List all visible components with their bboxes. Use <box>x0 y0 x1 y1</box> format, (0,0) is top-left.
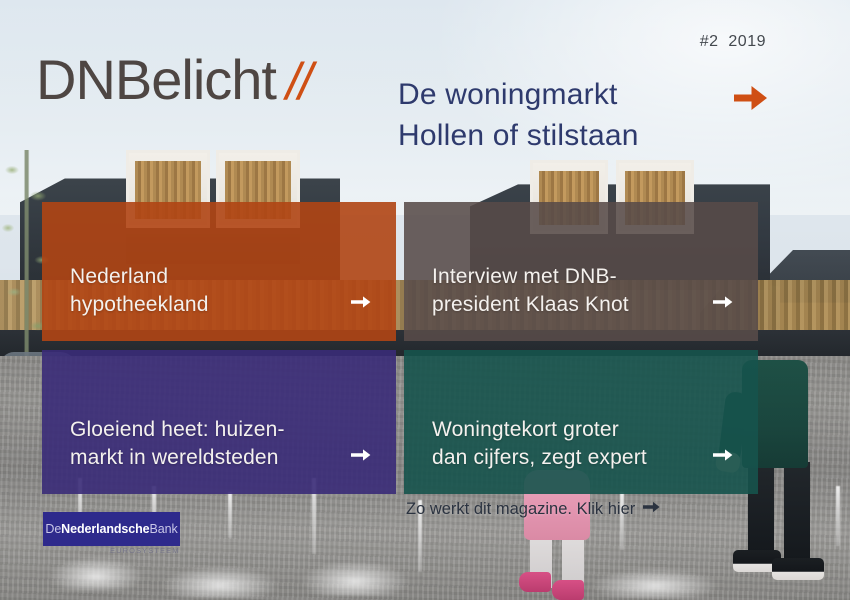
how-it-works-link[interactable]: Zo werkt dit magazine. Klik hier <box>406 500 660 519</box>
water-splash <box>300 560 410 596</box>
dnb-logo-suffix: Bank <box>150 522 178 536</box>
arrow-right-icon <box>712 444 734 466</box>
dnb-bank-logo-text: DeNederlandscheBank <box>45 522 177 536</box>
arrow-right-icon[interactable] <box>733 80 769 116</box>
dnb-logo-prefix: De <box>45 522 61 536</box>
water-jet <box>836 486 840 546</box>
tile-woningtekort-groter[interactable]: Woningtekort groterdan cijfers, zegt exp… <box>404 350 758 494</box>
tile-title: Woningtekort groterdan cijfers, zegt exp… <box>432 416 647 472</box>
tile-title: Interview met DNB-president Klaas Knot <box>432 263 629 319</box>
water-splash <box>160 566 280 598</box>
dnb-eurosysteem-label: EUROSYSTEEM <box>110 546 180 555</box>
arrow-right-icon <box>643 500 660 519</box>
water-splash <box>590 568 720 598</box>
arrow-right-icon <box>712 291 734 313</box>
dnb-bank-logo[interactable]: DeNederlandscheBank <box>43 512 180 546</box>
tile-title: Nederlandhypotheekland <box>70 263 209 319</box>
magazine-cover: #2 2019 DNBelicht // De woningmarkt Holl… <box>0 0 850 600</box>
tile-gloeiend-heet-huizenmarkt[interactable]: Gloeiend heet: huizen-markt in wereldste… <box>42 350 396 494</box>
magazine-title-slashes: // <box>286 56 311 108</box>
article-tiles: Nederlandhypotheekland Interview met DNB… <box>42 202 758 494</box>
issue-number: #2 2019 <box>700 33 766 51</box>
water-jet <box>228 492 232 538</box>
how-it-works-link-label: Zo werkt dit magazine. Klik hier <box>406 500 635 519</box>
adult-shoe-right <box>772 558 824 580</box>
water-splash <box>48 556 144 590</box>
masthead: #2 2019 DNBelicht // De woningmarkt Holl… <box>0 0 850 170</box>
tile-nederland-hypotheekland[interactable]: Nederlandhypotheekland <box>42 202 396 341</box>
subtitle-line-2: Hollen of stilstaan <box>398 115 639 156</box>
arrow-right-icon <box>350 291 372 313</box>
magazine-title: DNBelicht <box>36 52 276 108</box>
child-shoe-right <box>552 580 584 600</box>
arrow-right-icon <box>350 444 372 466</box>
dnb-logo-mid: Nederlandsche <box>61 522 149 536</box>
page-title: De woningmarkt Hollen of stilstaan <box>398 74 639 157</box>
tile-title: Gloeiend heet: huizen-markt in wereldste… <box>70 416 285 472</box>
adult-leg-right <box>784 462 810 566</box>
magazine-logo[interactable]: DNBelicht // <box>36 52 311 108</box>
tile-interview-klaas-knot[interactable]: Interview met DNB-president Klaas Knot <box>404 202 758 341</box>
subtitle-line-1: De woningmarkt <box>398 78 618 111</box>
child-shoe-left <box>519 572 551 592</box>
